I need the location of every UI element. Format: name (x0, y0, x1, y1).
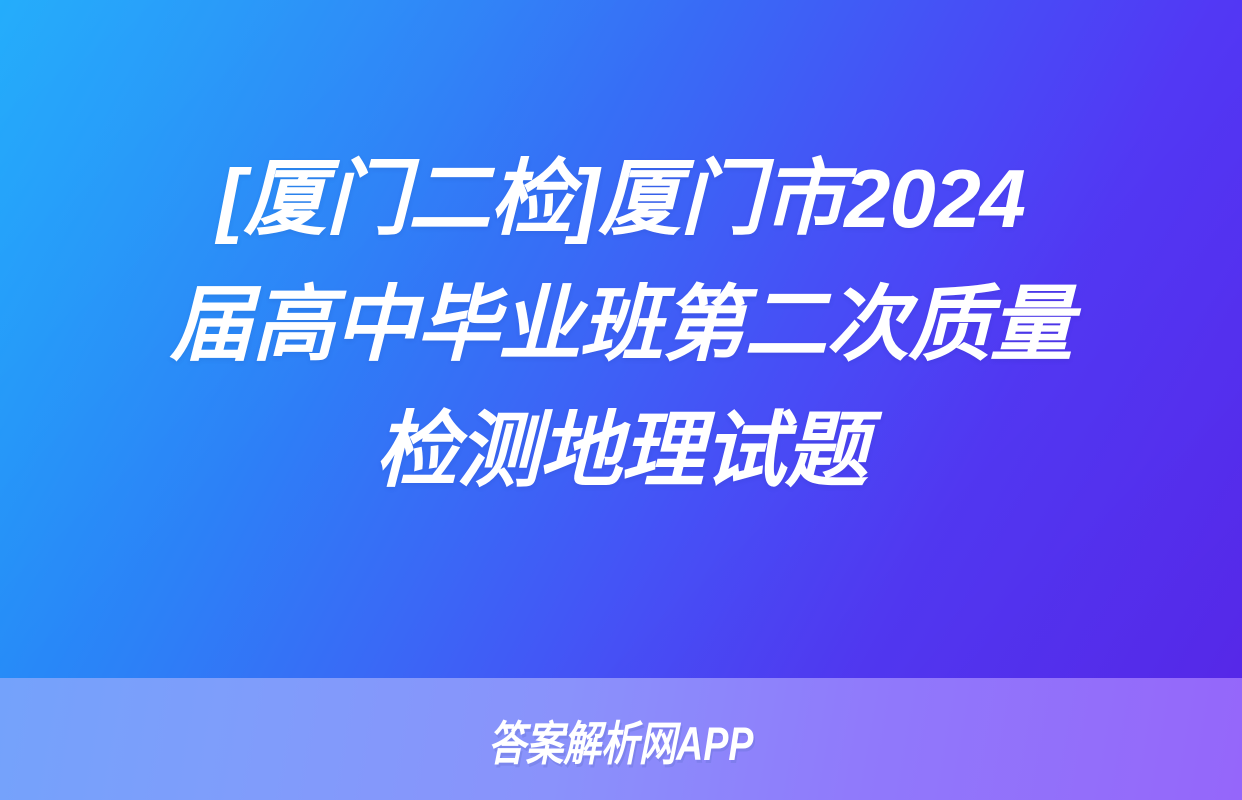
watermark-brand-label: 答案解析网APP (488, 705, 753, 774)
watermark-band: 答案解析网APP (0, 678, 1242, 800)
title-line-2: 届高中毕业班第二次质量 (170, 262, 1072, 388)
title-block: [厦门二检]厦门市2024 届高中毕业班第二次质量 检测地理试题 (0, 0, 1242, 678)
title-line-3: 检测地理试题 (375, 388, 867, 514)
exam-cover-card: [厦门二检]厦门市2024 届高中毕业班第二次质量 检测地理试题 答案解析网AP… (0, 0, 1242, 800)
title-line-1: [厦门二检]厦门市2024 (217, 136, 1025, 262)
